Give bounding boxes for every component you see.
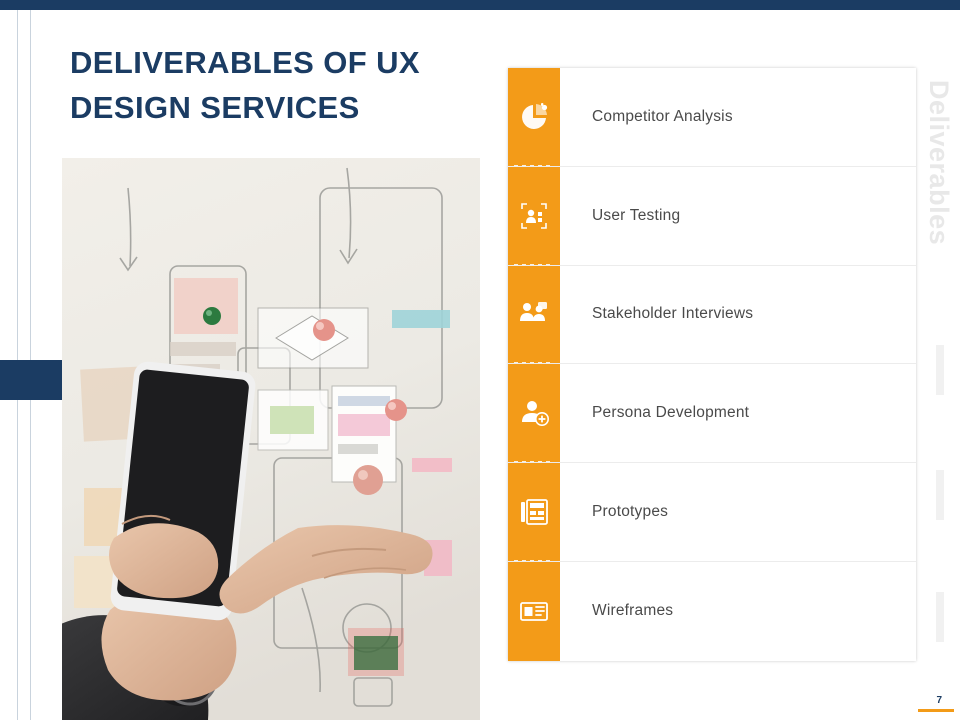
table-row[interactable]: Persona Development bbox=[508, 364, 916, 463]
deliverable-label: User Testing bbox=[560, 167, 916, 265]
pie-chart-icon-glyph bbox=[518, 101, 550, 133]
top-accent-bar bbox=[0, 0, 960, 10]
table-row[interactable]: Wireframes bbox=[508, 562, 916, 661]
wireframe-window-icon-glyph bbox=[518, 595, 550, 627]
deliverable-label: Stakeholder Interviews bbox=[560, 266, 916, 364]
user-testing-icon bbox=[508, 167, 560, 265]
table-row[interactable]: User Testing bbox=[508, 167, 916, 266]
page-number: 7 bbox=[936, 695, 942, 706]
person-add-icon bbox=[508, 364, 560, 462]
side-mark bbox=[936, 592, 944, 642]
left-accent-block bbox=[0, 360, 62, 400]
table-row[interactable]: Competitor Analysis bbox=[508, 68, 916, 167]
deliverable-label: Competitor Analysis bbox=[560, 68, 916, 166]
side-mark bbox=[936, 470, 944, 520]
side-vertical-label: Deliverables bbox=[914, 80, 954, 280]
person-add-icon-glyph bbox=[518, 397, 550, 429]
pie-chart-icon bbox=[508, 68, 560, 166]
deliverable-label: Persona Development bbox=[560, 364, 916, 462]
stakeholder-group-icon-glyph bbox=[518, 298, 550, 330]
slide-photo bbox=[62, 158, 480, 720]
deliverable-label: Wireframes bbox=[560, 562, 916, 661]
photo-illustration bbox=[62, 158, 480, 720]
stakeholder-group-icon bbox=[508, 266, 560, 364]
prototype-layout-icon bbox=[508, 463, 560, 561]
prototype-layout-icon-glyph bbox=[518, 496, 550, 528]
table-row[interactable]: Stakeholder Interviews bbox=[508, 266, 916, 365]
slide: DELIVERABLES OF UX DESIGN SERVICES bbox=[0, 0, 960, 720]
table-row[interactable]: Prototypes bbox=[508, 463, 916, 562]
side-mark bbox=[936, 345, 944, 395]
deliverables-table: Competitor Analysis User Testing bbox=[508, 68, 916, 661]
page-number-underline bbox=[918, 709, 954, 712]
page-title: DELIVERABLES OF UX DESIGN SERVICES bbox=[70, 40, 490, 130]
user-testing-icon-glyph bbox=[518, 200, 550, 232]
wireframe-window-icon bbox=[508, 562, 560, 661]
deliverable-label: Prototypes bbox=[560, 463, 916, 561]
